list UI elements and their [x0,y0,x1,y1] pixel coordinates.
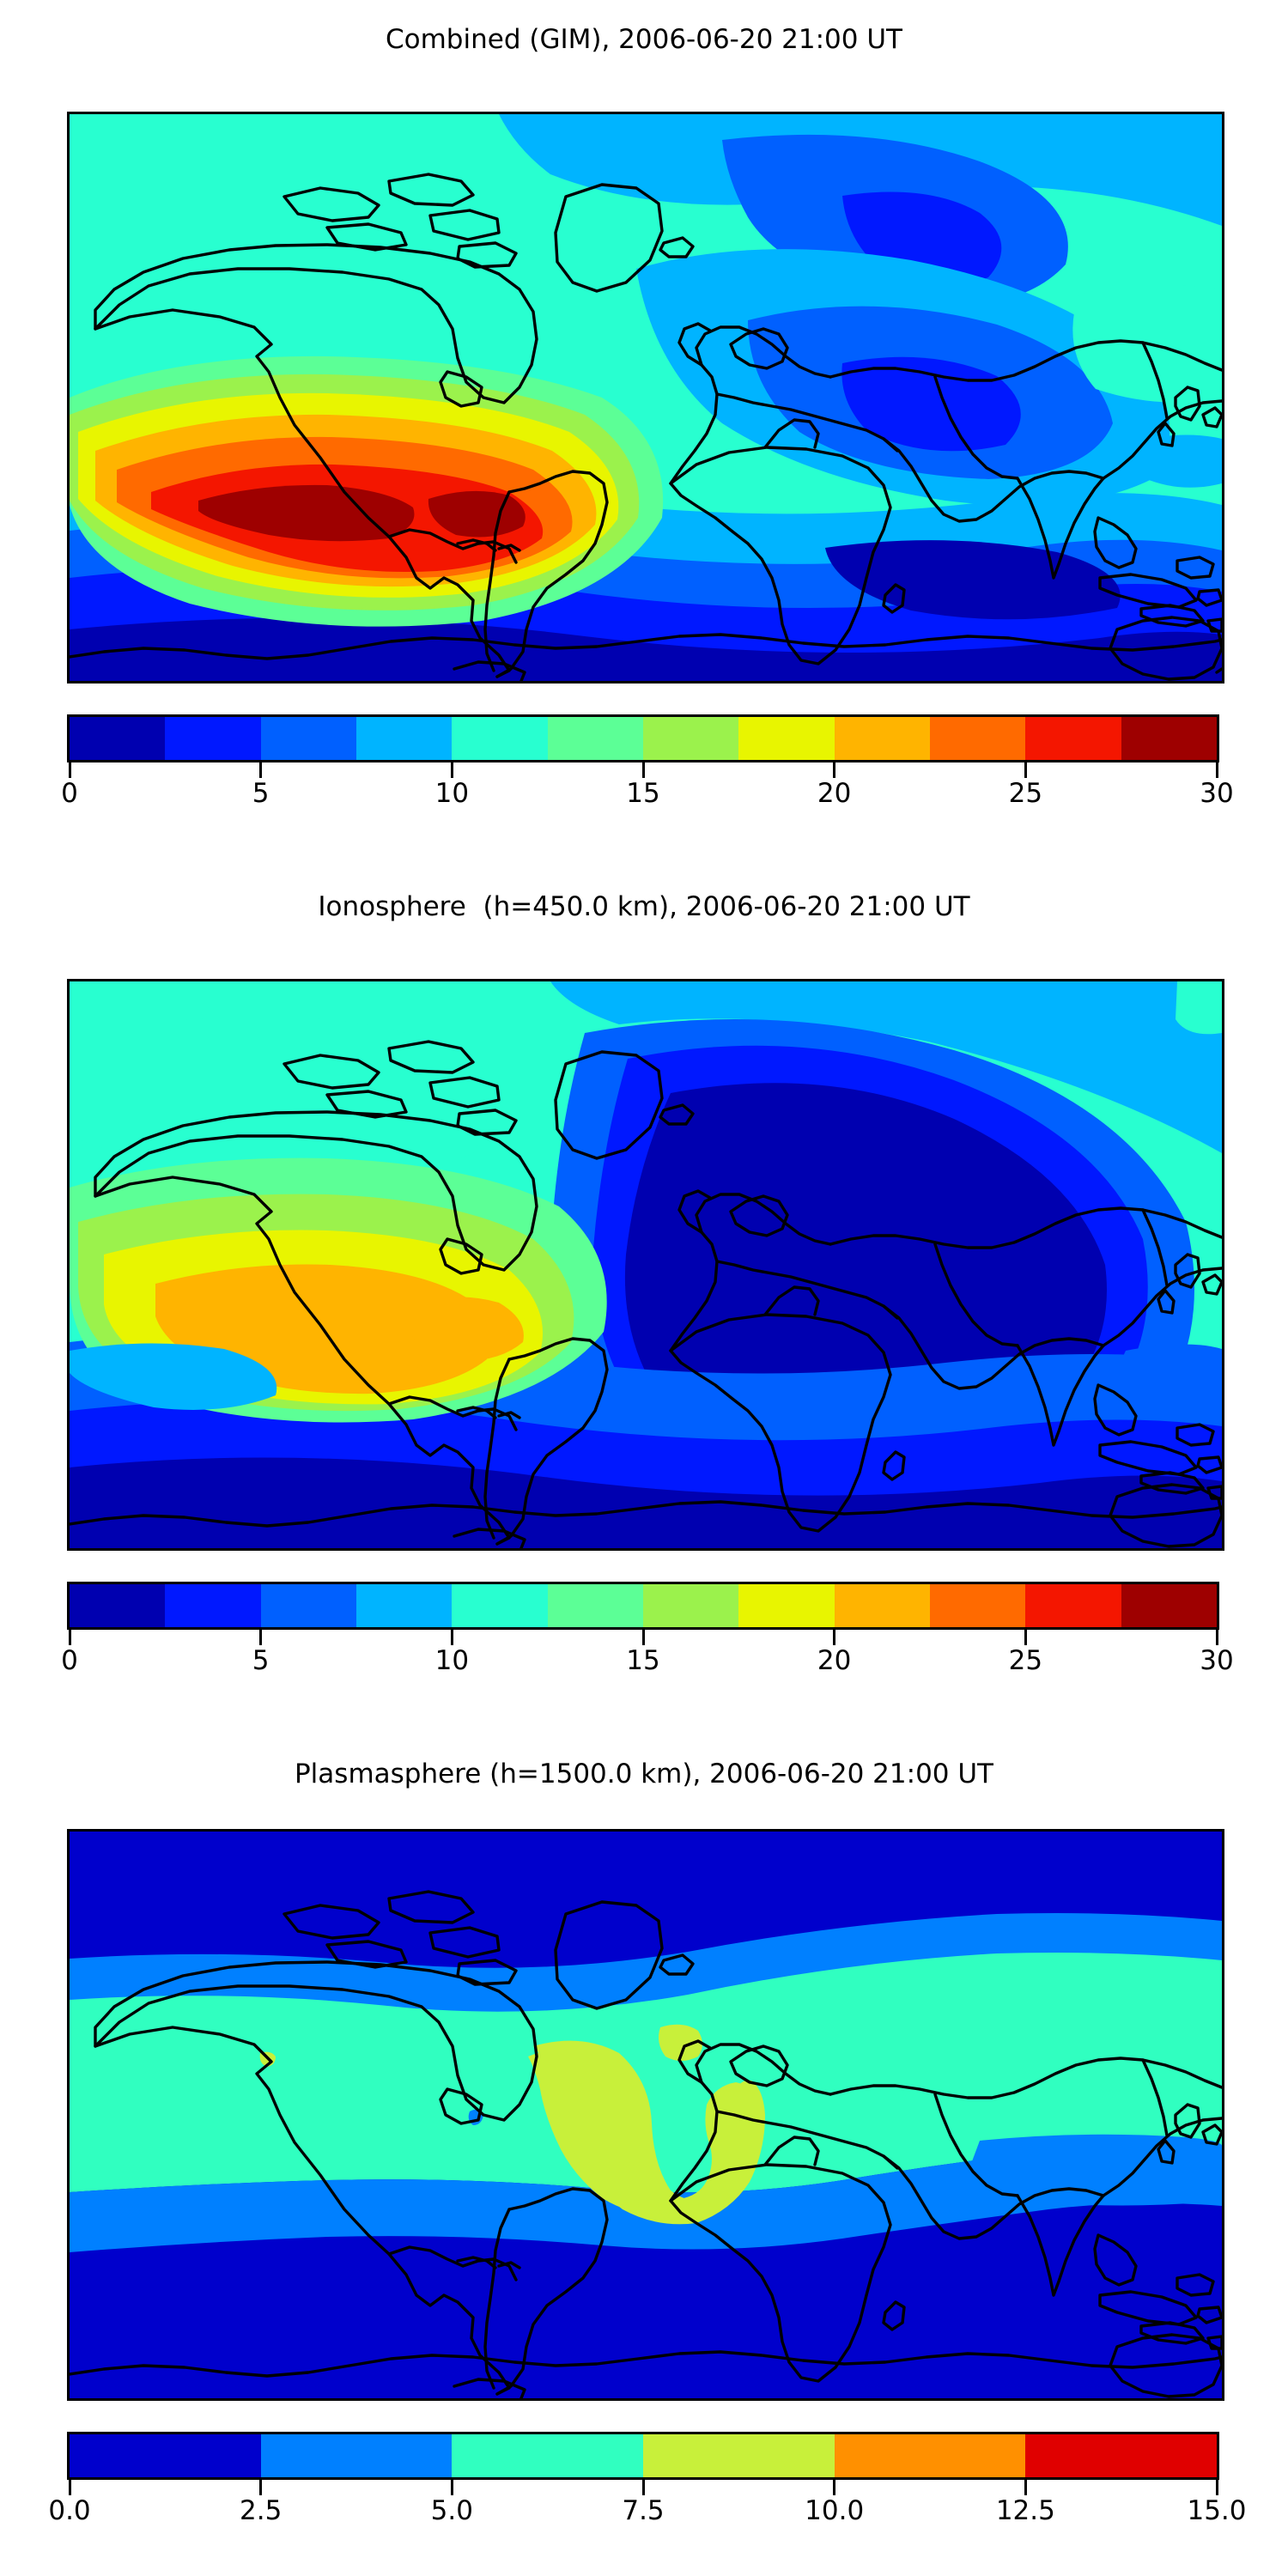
colorbar-tick-6 [1216,1630,1218,1645]
colorbar-swatch-9 [930,717,1025,760]
colorbar-tick-label-4: 20 [817,778,851,809]
colorbar-tick-label-5: 25 [1009,778,1042,809]
colorbar-tick-2 [451,2480,453,2495]
colorbar-tick-0 [69,2480,71,2495]
panel-title-ionosphere: Ionosphere (h=450.0 km), 2006-06-20 21:0… [0,891,1288,922]
colorbar-tick-label-4: 10.0 [805,2495,864,2526]
colorbar-swatch-6 [643,717,738,760]
colorbar-labels-combined-gim: 051015202530 [67,778,1219,816]
colorbar-tick-label-1: 5 [252,1645,270,1676]
colorbar-swatch-7 [738,1584,834,1627]
tec-maps-figure: Combined (GIM), 2006-06-20 21:00 UT [0,0,1288,2576]
colorbar-swatch-1 [165,717,260,760]
colorbar-combined-gim: 051015202530 [67,714,1219,816]
map-canvas-ionosphere [70,981,1222,1548]
colorbar-tick-4 [833,762,835,778]
colorbar-swatch-9 [930,1584,1025,1627]
colorbar-tick-5 [1024,2480,1027,2495]
colorbar-tick-2 [451,1630,453,1645]
colorbar-swatch-1 [165,1584,260,1627]
colorbar-tick-3 [642,762,645,778]
colorbar-swatch-5 [548,1584,643,1627]
colorbar-swatch-3 [356,1584,452,1627]
colorbar-tick-1 [259,2480,262,2495]
colorbar-tick-label-2: 5.0 [431,2495,473,2526]
colorbar-ionosphere: 051015202530 [67,1582,1219,1683]
colorbar-tick-label-6: 15.0 [1187,2495,1246,2526]
colorbar-tick-0 [69,762,71,778]
colorbar-swatch-4 [835,2434,1026,2477]
colorbar-swatch-11 [1121,1584,1217,1627]
colorbar-tick-label-3: 15 [626,1645,659,1676]
colorbar-tick-4 [833,1630,835,1645]
colorbar-swatch-4 [452,1584,547,1627]
colorbar-tick-label-0: 0 [61,778,78,809]
colorbar-labels-ionosphere: 051015202530 [67,1645,1219,1683]
colorbar-tick-label-1: 5 [252,778,270,809]
colorbar-swatch-11 [1121,717,1217,760]
colorbar-ticks-combined-gim [67,762,1219,778]
colorbar-tick-label-2: 10 [435,1645,469,1676]
colorbar-swatch-8 [835,1584,930,1627]
colorbar-tick-5 [1024,1630,1027,1645]
colorbar-tick-0 [69,1630,71,1645]
colorbar-tick-label-3: 15 [626,778,659,809]
colorbar-ticks-ionosphere [67,1630,1219,1645]
colorbar-swatch-10 [1025,717,1121,760]
map-ionosphere [67,979,1224,1551]
colorbar-tick-5 [1024,762,1027,778]
colorbar-swatch-6 [643,1584,738,1627]
colorbar-swatch-0 [70,2434,261,2477]
colorbar-swatch-3 [643,2434,835,2477]
colorbar-tick-2 [451,762,453,778]
colorbar-tick-label-6: 30 [1200,778,1233,809]
map-combined-gim [67,112,1224,683]
colorbar-tick-label-0: 0.0 [48,2495,90,2526]
colorbar-swatch-0 [70,1584,165,1627]
colorbar-swatch-0 [70,717,165,760]
colorbar-tick-4 [833,2480,835,2495]
colorbar-swatch-5 [1025,2434,1217,2477]
colorbar-swatch-10 [1025,1584,1121,1627]
map-canvas-plasmasphere [70,1832,1222,2398]
colorbar-swatch-3 [356,717,452,760]
colorbar-tick-label-6: 30 [1200,1645,1233,1676]
colorbar-swatch-7 [738,717,834,760]
colorbar-swatch-1 [261,2434,453,2477]
colorbar-tick-label-5: 12.5 [996,2495,1055,2526]
colorbar-swatches-ionosphere [67,1582,1219,1630]
map-canvas-combined-gim [70,114,1222,681]
colorbar-swatch-2 [452,2434,643,2477]
colorbar-tick-label-0: 0 [61,1645,78,1676]
map-plasmasphere [67,1829,1224,2401]
colorbar-labels-plasmasphere: 0.02.55.07.510.012.515.0 [67,2495,1219,2533]
colorbar-swatches-combined-gim [67,714,1219,762]
colorbar-swatch-2 [261,1584,356,1627]
colorbar-tick-label-5: 25 [1009,1645,1042,1676]
panel-title-combined-gim: Combined (GIM), 2006-06-20 21:00 UT [0,24,1288,55]
colorbar-tick-6 [1216,2480,1218,2495]
colorbar-tick-3 [642,2480,645,2495]
colorbar-tick-3 [642,1630,645,1645]
colorbar-ticks-plasmasphere [67,2480,1219,2495]
colorbar-swatch-2 [261,717,356,760]
colorbar-tick-1 [259,762,262,778]
colorbar-swatches-plasmasphere [67,2432,1219,2480]
colorbar-swatch-8 [835,717,930,760]
colorbar-tick-label-1: 2.5 [240,2495,282,2526]
panel-title-plasmasphere: Plasmasphere (h=1500.0 km), 2006-06-20 2… [0,1759,1288,1789]
colorbar-tick-label-2: 10 [435,778,469,809]
colorbar-tick-6 [1216,762,1218,778]
colorbar-tick-1 [259,1630,262,1645]
colorbar-tick-label-4: 20 [817,1645,851,1676]
colorbar-tick-label-3: 7.5 [622,2495,664,2526]
colorbar-swatch-4 [452,717,547,760]
colorbar-swatch-5 [548,717,643,760]
colorbar-plasmasphere: 0.02.55.07.510.012.515.0 [67,2432,1219,2533]
